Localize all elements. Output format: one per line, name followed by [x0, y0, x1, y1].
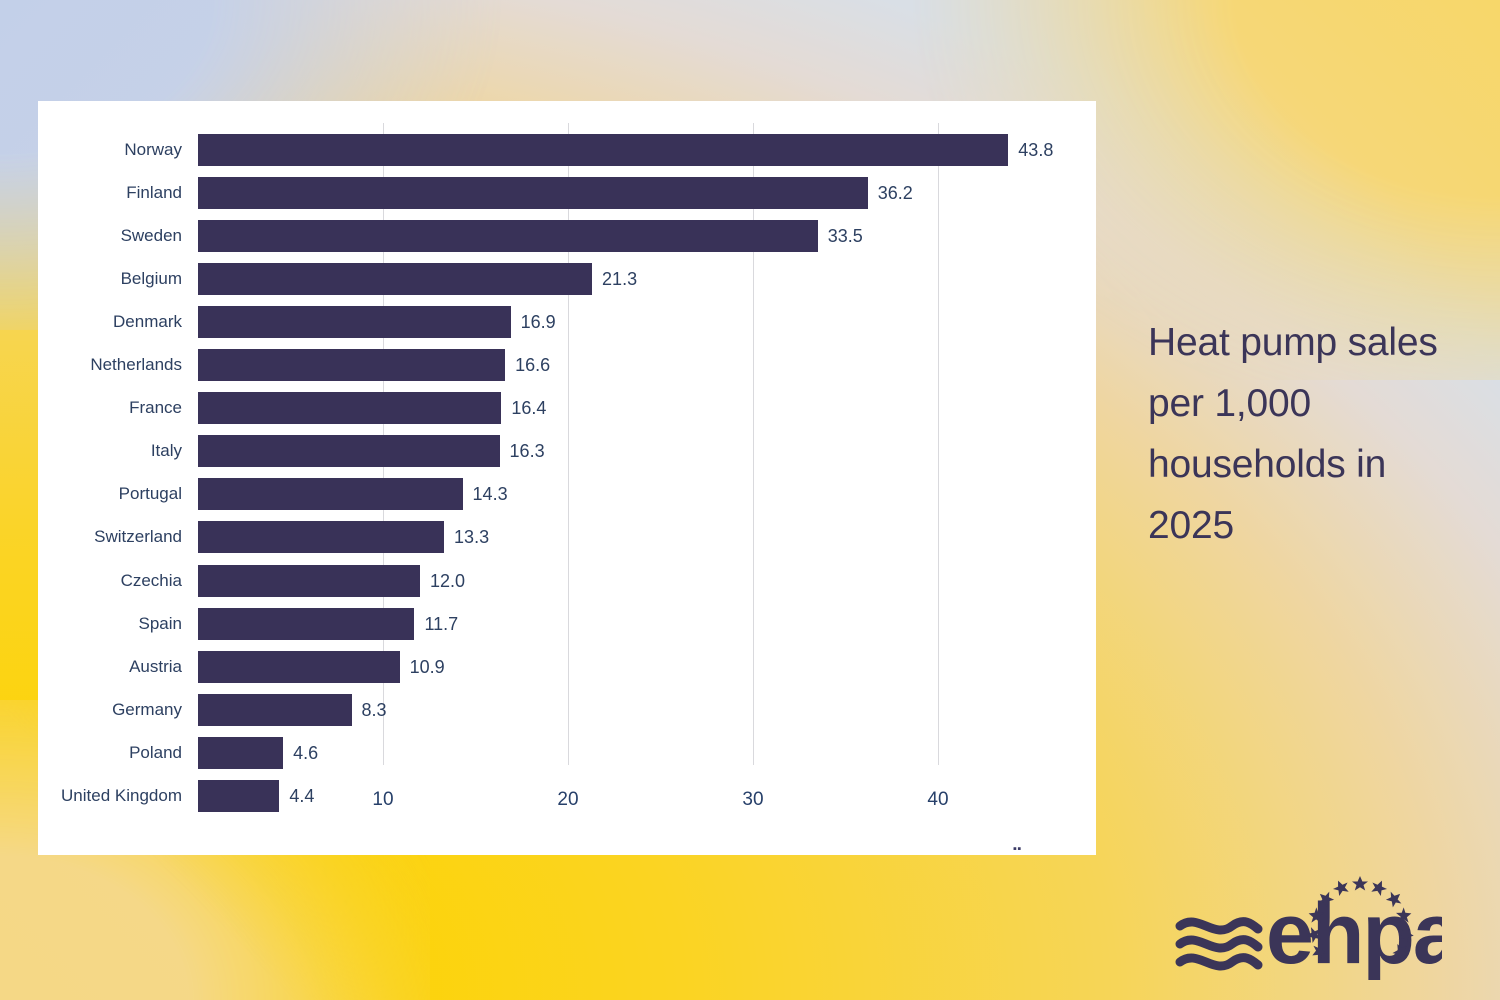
bar-value-label: 8.3	[362, 694, 387, 726]
category-label: Germany	[38, 694, 182, 726]
bar-value-label: 36.2	[878, 177, 913, 209]
bar-row[interactable]: Austria10.9	[38, 651, 1096, 683]
category-label: Portugal	[38, 478, 182, 510]
category-label: Norway	[38, 134, 182, 166]
bar[interactable]	[198, 737, 283, 769]
bar[interactable]	[198, 608, 414, 640]
clipped-source-note: ▪▪	[1013, 846, 1051, 855]
category-label: Switzerland	[38, 521, 182, 553]
bar-value-label: 10.9	[410, 651, 445, 683]
bar-row[interactable]: Portugal14.3	[38, 478, 1096, 510]
bar-row[interactable]: France16.4	[38, 392, 1096, 424]
ehpa-wordmark: ehpa	[1266, 886, 1442, 980]
category-label: Italy	[38, 435, 182, 467]
bar-value-label: 33.5	[828, 220, 863, 252]
bar[interactable]	[198, 306, 511, 338]
category-label: Sweden	[38, 220, 182, 252]
bar-row[interactable]: Germany8.3	[38, 694, 1096, 726]
category-label: Belgium	[38, 263, 182, 295]
bar-row[interactable]: Switzerland13.3	[38, 521, 1096, 553]
bar-row[interactable]: Norway43.8	[38, 134, 1096, 166]
bar[interactable]	[198, 392, 501, 424]
bar[interactable]	[198, 220, 818, 252]
bar[interactable]	[198, 435, 500, 467]
category-label: Czechia	[38, 565, 182, 597]
category-label: France	[38, 392, 182, 424]
bar-row[interactable]: Italy16.3	[38, 435, 1096, 467]
bar-row[interactable]: Sweden33.5	[38, 220, 1096, 252]
bar-value-label: 13.3	[454, 521, 489, 553]
bar-value-label: 16.4	[511, 392, 546, 424]
category-label: Poland	[38, 737, 182, 769]
chart-card: 10203040Norway43.8Finland36.2Sweden33.5B…	[38, 101, 1096, 855]
bar[interactable]	[198, 263, 592, 295]
bar-value-label: 43.8	[1018, 134, 1053, 166]
bar-value-label: 16.9	[521, 306, 556, 338]
bar[interactable]	[198, 780, 279, 812]
bar-row[interactable]: Spain11.7	[38, 608, 1096, 640]
bar[interactable]	[198, 521, 444, 553]
bar[interactable]	[198, 694, 352, 726]
category-label: Denmark	[38, 306, 182, 338]
bar-row[interactable]: Czechia12.0	[38, 565, 1096, 597]
bar-row[interactable]: Denmark16.9	[38, 306, 1096, 338]
bar-value-label: 16.3	[510, 435, 545, 467]
bar-value-label: 12.0	[430, 565, 465, 597]
bar-value-label: 21.3	[602, 263, 637, 295]
bar[interactable]	[198, 134, 1008, 166]
bar-row[interactable]: United Kingdom4.4	[38, 780, 1096, 812]
bar-row[interactable]: Poland4.6	[38, 737, 1096, 769]
bar[interactable]	[198, 478, 463, 510]
bar[interactable]	[198, 565, 420, 597]
bar-value-label: 4.6	[293, 737, 318, 769]
bar-value-label: 14.3	[473, 478, 508, 510]
category-label: Austria	[38, 651, 182, 683]
bar-row[interactable]: Netherlands16.6	[38, 349, 1096, 381]
category-label: United Kingdom	[38, 780, 182, 812]
ehpa-logo[interactable]: ehpa	[1174, 868, 1442, 980]
bar-value-label: 4.4	[289, 780, 314, 812]
bar[interactable]	[198, 349, 505, 381]
bar[interactable]	[198, 177, 868, 209]
bar[interactable]	[198, 651, 400, 683]
clipped-source-note-text: ▪▪	[1013, 846, 1051, 855]
bar-row[interactable]: Belgium21.3	[38, 263, 1096, 295]
waves-icon	[1180, 922, 1258, 966]
chart-headline: Heat pump sales per 1,000 households in …	[1148, 312, 1468, 556]
bar-chart-plot: 10203040Norway43.8Finland36.2Sweden33.5B…	[38, 101, 1096, 855]
category-label: Netherlands	[38, 349, 182, 381]
category-label: Spain	[38, 608, 182, 640]
bar-value-label: 16.6	[515, 349, 550, 381]
bar-row[interactable]: Finland36.2	[38, 177, 1096, 209]
category-label: Finland	[38, 177, 182, 209]
bar-value-label: 11.7	[424, 608, 458, 640]
